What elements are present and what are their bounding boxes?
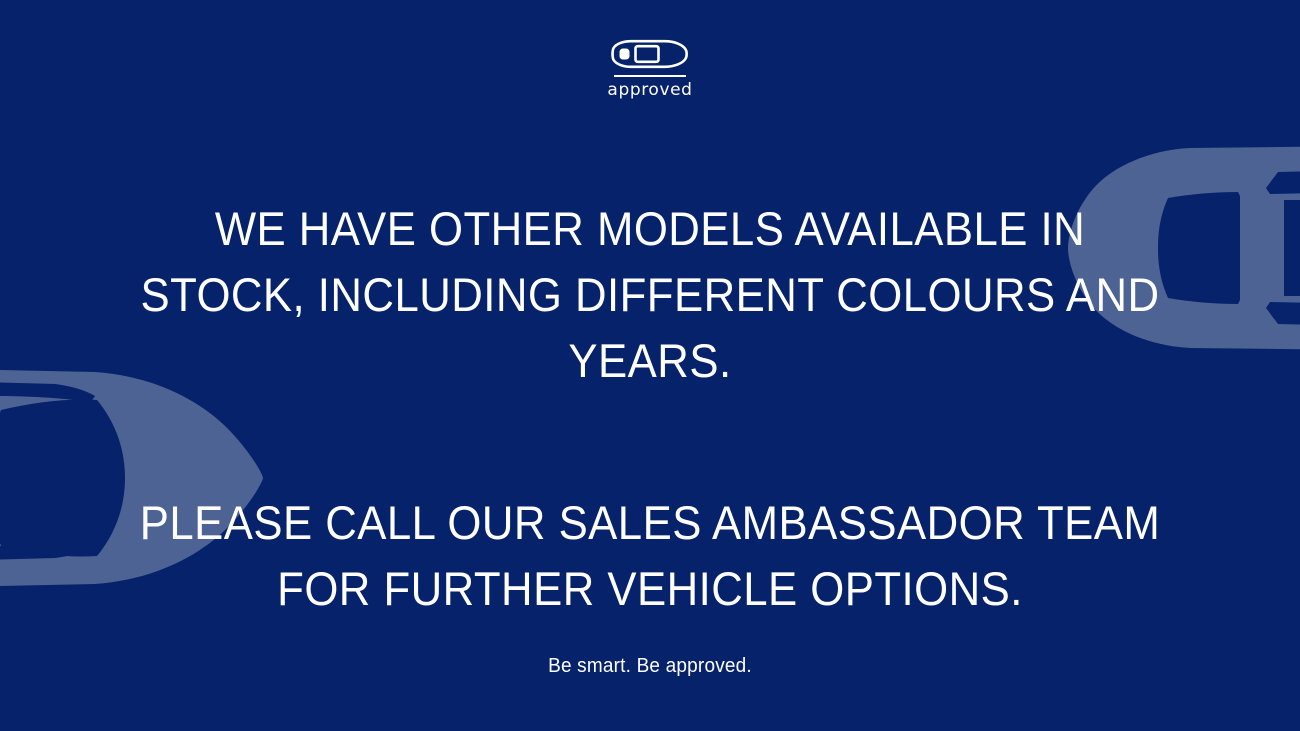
headline-line-1: WE HAVE OTHER MODELS AVAILABLE IN <box>46 196 1255 262</box>
message-paragraph-one: WE HAVE OTHER MODELS AVAILABLE IN STOCK,… <box>0 196 1300 394</box>
brand-logo: approved <box>0 38 1300 99</box>
car-top-view-icon <box>611 38 689 70</box>
brand-tagline: Be smart. Be approved. <box>33 655 1268 678</box>
headline-line-2: STOCK, INCLUDING DIFFERENT COLOURS AND <box>46 262 1255 328</box>
headline-line-5: FOR FURTHER VEHICLE OPTIONS. <box>46 556 1255 622</box>
logo-wordmark: approved <box>607 82 692 99</box>
logo-divider-rule <box>614 75 686 77</box>
message-paragraph-two: PLEASE CALL OUR SALES AMBASSADOR TEAM FO… <box>0 490 1300 622</box>
headline-line-3: YEARS. <box>46 328 1255 394</box>
promo-slide: approved WE HAVE OTHER MODELS AVAILABLE … <box>0 0 1300 731</box>
message-block: WE HAVE OTHER MODELS AVAILABLE IN STOCK,… <box>0 196 1300 622</box>
headline-line-4: PLEASE CALL OUR SALES AMBASSADOR TEAM <box>46 490 1255 556</box>
